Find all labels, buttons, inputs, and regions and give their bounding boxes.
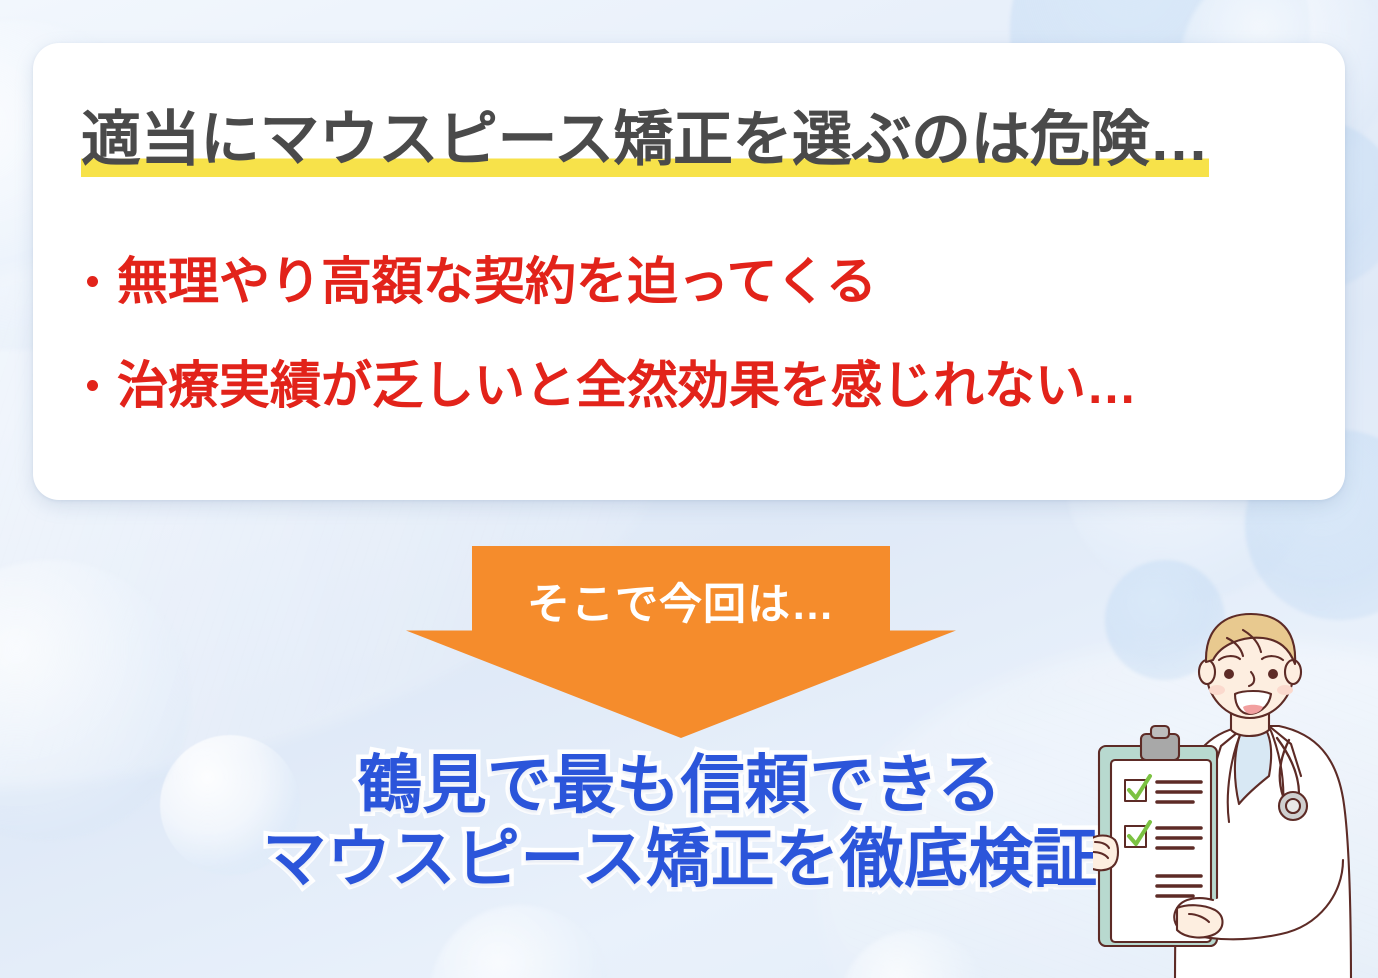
list-item-label: 治療実績が乏しいと全然効果を感じれない… xyxy=(117,360,1137,411)
arrow-banner-label: そこで今回は… xyxy=(406,584,956,627)
bubble-decoration xyxy=(430,905,610,978)
bullet-dot-icon xyxy=(87,380,98,391)
bottom-headline-line-1: 鶴見で最も信頼できる xyxy=(352,752,1008,820)
hero-banner: 適当にマウスピース矯正を選ぶのは危険… 無理やり高額な契約を迫ってくる 治療実績… xyxy=(0,0,1378,978)
down-arrow-icon xyxy=(406,546,956,738)
doctor-illustration xyxy=(1093,608,1378,978)
bubble-decoration xyxy=(840,930,990,978)
transition-arrow-banner: そこで今回は… xyxy=(406,546,956,738)
list-item-label: 無理やり高額な契約を迫ってくる xyxy=(117,256,877,307)
bottom-headline-line-2: マウスピース矯正を徹底検証 xyxy=(256,826,1103,894)
list-item: 治療実績が乏しいと全然効果を感じれない… xyxy=(85,360,1315,411)
card-title: 適当にマウスピース矯正を選ぶのは危険… xyxy=(81,110,1209,170)
bottom-headline-row: 鶴見で最も信頼できる xyxy=(180,752,1180,820)
bottom-headline: 鶴見で最も信頼できる マウスピース矯正を徹底検証 xyxy=(180,752,1180,894)
warning-bullet-list: 無理やり高額な契約を迫ってくる 治療実績が乏しいと全然効果を感じれない… xyxy=(85,256,1315,411)
card-title-text: 適当にマウスピース矯正を選ぶのは危険… xyxy=(81,106,1209,177)
bullet-dot-icon xyxy=(87,276,98,287)
warning-card: 適当にマウスピース矯正を選ぶのは危険… 無理やり高額な契約を迫ってくる 治療実績… xyxy=(33,43,1345,500)
list-item: 無理やり高額な契約を迫ってくる xyxy=(85,256,1315,307)
bubble-decoration xyxy=(0,560,190,840)
bottom-headline-row: マウスピース矯正を徹底検証 xyxy=(180,826,1180,894)
